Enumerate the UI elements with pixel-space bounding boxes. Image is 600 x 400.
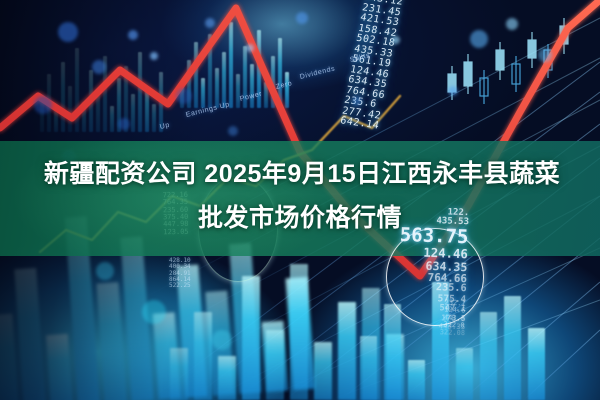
- bokeh-dot: [92, 60, 106, 74]
- bokeh-dot: [296, 12, 308, 24]
- bokeh-dot: [246, 44, 254, 52]
- number-column-center: 122.435.53563.75124.46634.35764.66235.65…: [396, 237, 468, 338]
- bokeh-dot: [58, 22, 78, 42]
- bokeh-dot: [506, 18, 518, 30]
- bokeh-dot: [470, 30, 488, 48]
- bokeh-dot: [118, 118, 130, 130]
- bokeh-dot: [392, 36, 400, 44]
- title-line-1: 新疆配资公司 2025年9月15日江西永丰县蔬菜: [0, 152, 600, 196]
- bokeh-dot: [228, 126, 238, 136]
- bokeh-dot: [150, 52, 158, 60]
- bokeh-dot: [448, 86, 458, 96]
- bokeh-dot: [212, 330, 232, 350]
- bokeh-dot: [352, 96, 362, 106]
- bokeh-dot: [176, 88, 192, 104]
- bokeh-dot: [34, 96, 52, 114]
- page-title: 新疆配资公司 2025年9月15日江西永丰县蔬菜 批发市场价格行情: [0, 152, 600, 240]
- bokeh-dot: [128, 30, 138, 40]
- bokeh-dot: [142, 300, 166, 324]
- bokeh-dot: [205, 18, 215, 28]
- bokeh-dot: [96, 262, 114, 280]
- bokeh-dot: [538, 48, 552, 62]
- banner-image: 343.12 231.45 421.53 158.42 502.18 435.3…: [0, 0, 600, 400]
- title-line-2: 批发市场价格行情: [0, 196, 600, 240]
